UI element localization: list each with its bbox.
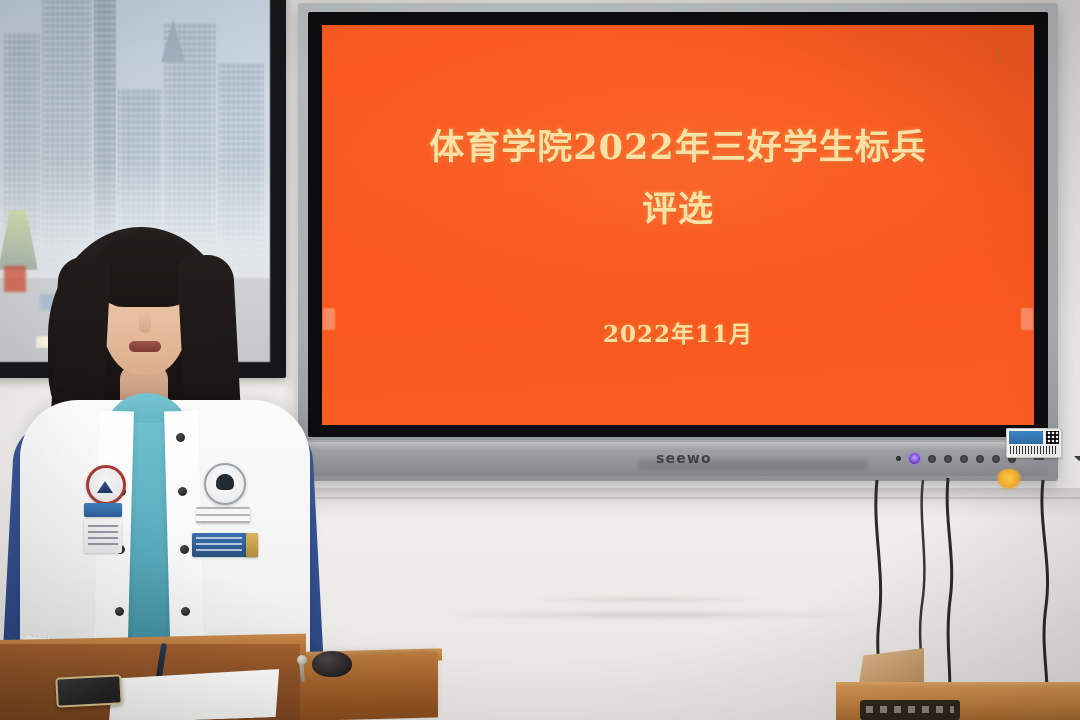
indicator-dot-icon xyxy=(896,456,901,461)
round-badge-red xyxy=(86,465,126,505)
volume-up-button[interactable] xyxy=(976,455,984,463)
text-patch-right xyxy=(196,507,250,523)
white-patch-left xyxy=(84,519,122,553)
spec-sticker xyxy=(1006,428,1062,458)
home-button[interactable] xyxy=(992,455,1000,463)
wall-shadow xyxy=(300,488,1080,518)
slide-date: 2022年11月 xyxy=(603,315,753,349)
presentation-room-scene: 体育学院2022年三好学生标兵 评选 2022年11月 seewo xyxy=(0,0,1080,720)
jacket-snap xyxy=(176,433,185,442)
power-button[interactable] xyxy=(909,453,920,464)
panel-chin: seewo xyxy=(308,440,1048,476)
qr-code-icon xyxy=(1046,431,1059,444)
wall-seam-line xyxy=(300,497,1080,499)
slide-title-line-2: 评选 xyxy=(348,179,1008,241)
chin-highlight xyxy=(308,442,1048,450)
chevron-marker-icon xyxy=(1074,456,1080,461)
presenter-nose xyxy=(139,311,151,333)
presentation-slide: 体育学院2022年三好学生标兵 评选 2022年11月 xyxy=(322,25,1034,425)
blue-patch-left xyxy=(84,503,122,517)
seewo-brand-logo: seewo xyxy=(656,451,712,467)
panel-bezel: 体育学院2022年三好学生标兵 评选 2022年11月 xyxy=(308,12,1048,437)
sticker-blue-band xyxy=(1009,431,1043,444)
interactive-flat-panel[interactable]: 体育学院2022年三好学生标兵 评选 2022年11月 seewo xyxy=(298,3,1058,481)
smartphone xyxy=(55,674,122,707)
microphone-knob xyxy=(297,655,307,665)
microphone xyxy=(312,651,352,677)
round-badge-gray xyxy=(204,463,246,505)
wall-smudge-secondary xyxy=(520,596,770,603)
jacket-snap xyxy=(181,607,190,616)
presenter-mouth xyxy=(129,341,161,352)
panel-screen[interactable]: 体育学院2022年三好学生标兵 评选 2022年11月 xyxy=(322,25,1034,425)
right-touch-marker-icon[interactable] xyxy=(1021,308,1033,330)
wall-smudge xyxy=(440,610,860,620)
jacket-snap xyxy=(115,607,124,616)
volume-down-button[interactable] xyxy=(960,455,968,463)
jacket-snap xyxy=(178,487,187,496)
cityscape-spire xyxy=(161,20,185,62)
menu-button[interactable] xyxy=(928,455,936,463)
amber-light-stem xyxy=(997,48,999,62)
slide-title-line-1: 体育学院2022年三好学生标兵 xyxy=(348,117,1008,179)
amber-light-icon xyxy=(996,469,1022,489)
source-button[interactable] xyxy=(944,455,952,463)
gold-patch-right xyxy=(246,533,258,557)
jacket-snap xyxy=(180,545,189,554)
slide-title: 体育学院2022年三好学生标兵 评选 xyxy=(348,117,1008,241)
barcode-icon xyxy=(1010,446,1056,454)
cabinet-control-panel[interactable] xyxy=(860,700,960,720)
